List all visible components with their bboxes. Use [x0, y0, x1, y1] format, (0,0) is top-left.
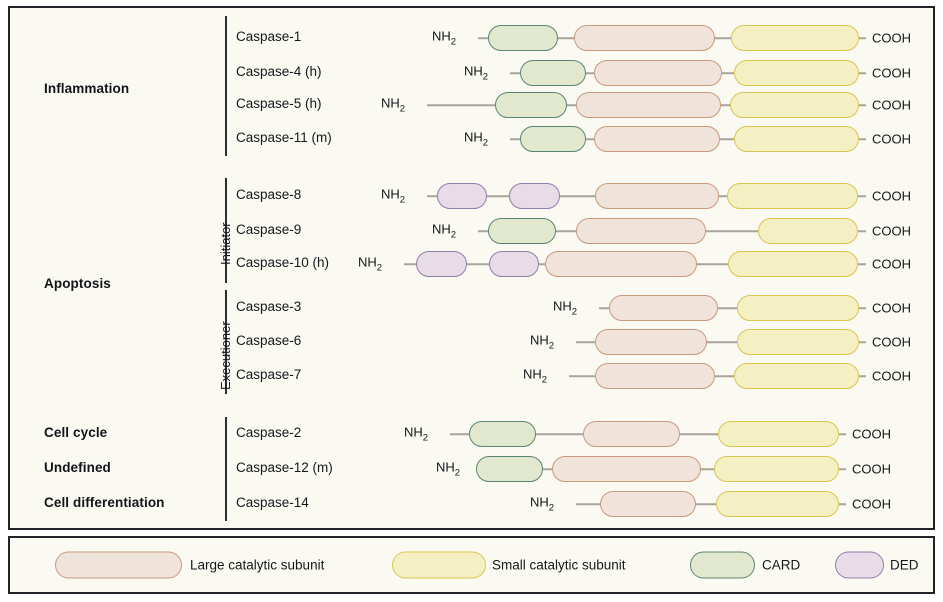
small-catalytic-subunit-caspase-7-2	[734, 363, 859, 389]
linker-c-terminus-caspase-8	[858, 195, 866, 197]
large-catalytic-subunit-caspase-7	[595, 363, 715, 389]
caspase-name-caspase-14: Caspase-14	[236, 495, 309, 510]
legend-swatch-card	[690, 552, 755, 579]
linker-caspase-10-h-1	[467, 263, 489, 265]
n-terminus-label-caspase-12-m: NH2	[436, 460, 460, 479]
linker-caspase-7-1	[715, 375, 734, 377]
linker-caspase-1-2	[715, 37, 731, 39]
n-terminus-label-caspase-1: NH2	[432, 29, 456, 48]
n-terminus-label-caspase-10-h: NH2	[358, 255, 382, 274]
legend-swatch-large-catalytic-subunit	[55, 552, 182, 579]
linker-n-terminus-caspase-7	[569, 375, 595, 377]
c-terminus-label-caspase-12-m: COOH	[852, 462, 891, 477]
small-catalytic-subunit-caspase-14-2	[716, 491, 839, 517]
linker-caspase-14-1	[696, 503, 716, 505]
legend-label-small-catalytic-subunit: Small catalytic subunit	[492, 558, 626, 573]
linker-c-terminus-caspase-2	[839, 433, 846, 435]
linker-caspase-6-1	[707, 341, 737, 343]
legend-label-large-catalytic-subunit: Large catalytic subunit	[190, 558, 324, 573]
caspase-name-caspase-10-h: Caspase-10 (h)	[236, 255, 329, 270]
linker-c-terminus-caspase-10-h	[858, 263, 866, 265]
linker-c-terminus-caspase-7	[859, 375, 866, 377]
legend-label-ded: DED	[890, 558, 919, 573]
linker-c-terminus-caspase-3	[859, 307, 866, 309]
linker-caspase-4-h-1	[586, 72, 594, 74]
ded-domain-caspase-10-h-2	[489, 251, 539, 277]
large-catalytic-subunit-caspase-5-h-2	[576, 92, 721, 118]
small-catalytic-subunit-caspase-4-h-3	[734, 60, 859, 86]
linker-n-terminus-caspase-1	[478, 37, 488, 39]
c-terminus-label-caspase-3: COOH	[872, 301, 911, 316]
linker-caspase-12-m-2	[701, 468, 714, 470]
divider-inflammation	[225, 16, 227, 156]
linker-caspase-10-h-3	[697, 263, 728, 265]
large-catalytic-subunit-caspase-4-h-2	[594, 60, 722, 86]
linker-caspase-2-2	[680, 433, 718, 435]
card-domain-caspase-12-m	[476, 456, 543, 482]
linker-c-terminus-caspase-1	[859, 37, 866, 39]
small-catalytic-subunit-caspase-1-3	[731, 25, 859, 51]
n-terminus-label-caspase-4-h: NH2	[464, 64, 488, 83]
linker-caspase-3-1	[718, 307, 737, 309]
large-catalytic-subunit-caspase-2-2	[583, 421, 680, 447]
linker-c-terminus-caspase-5-h	[859, 104, 866, 106]
small-catalytic-subunit-caspase-9-3	[758, 218, 858, 244]
n-terminus-label-caspase-5-h: NH2	[381, 96, 405, 115]
legend-label-card: CARD	[762, 558, 800, 573]
large-catalytic-subunit-caspase-8-3	[595, 183, 719, 209]
card-domain-caspase-11-m	[520, 126, 586, 152]
small-catalytic-subunit-caspase-2-3	[718, 421, 839, 447]
linker-n-terminus-caspase-9	[478, 230, 488, 232]
small-catalytic-subunit-caspase-3-2	[737, 295, 859, 321]
n-terminus-label-caspase-7: NH2	[523, 367, 547, 386]
linker-n-terminus-caspase-8	[427, 195, 437, 197]
linker-n-terminus-caspase-3	[599, 307, 609, 309]
subgroup-label-executioner: Executioner	[218, 321, 233, 390]
n-terminus-label-caspase-3: NH2	[553, 299, 577, 318]
ded-domain-caspase-10-h	[416, 251, 467, 277]
c-terminus-label-caspase-2: COOH	[852, 427, 891, 442]
n-terminus-label-caspase-14: NH2	[530, 495, 554, 514]
linker-caspase-11-m-1	[586, 138, 594, 140]
c-terminus-label-caspase-7: COOH	[872, 369, 911, 384]
caspase-name-caspase-12-m: Caspase-12 (m)	[236, 460, 333, 475]
n-terminus-label-caspase-8: NH2	[381, 187, 405, 206]
c-terminus-label-caspase-10-h: COOH	[872, 257, 911, 272]
divider-other-functions	[225, 417, 227, 521]
c-terminus-label-caspase-4-h: COOH	[872, 66, 911, 81]
large-catalytic-subunit-caspase-12-m-2	[552, 456, 701, 482]
large-catalytic-subunit-caspase-11-m-2	[594, 126, 720, 152]
linker-c-terminus-caspase-6	[859, 341, 866, 343]
ded-domain-caspase-8-2	[509, 183, 560, 209]
large-catalytic-subunit-caspase-6	[595, 329, 707, 355]
card-domain-caspase-5-h	[495, 92, 567, 118]
group-label-undefined: Undefined	[44, 460, 111, 475]
caspase-name-caspase-3: Caspase-3	[236, 299, 301, 314]
linker-caspase-5-h-1	[567, 104, 576, 106]
n-terminus-label-caspase-11-m: NH2	[464, 130, 488, 149]
linker-caspase-8-2	[560, 195, 595, 197]
card-domain-caspase-2	[469, 421, 536, 447]
large-catalytic-subunit-caspase-1-2	[574, 25, 715, 51]
large-catalytic-subunit-caspase-9-2	[576, 218, 706, 244]
large-catalytic-subunit-caspase-10-h-3	[545, 251, 697, 277]
caspase-name-caspase-11-m: Caspase-11 (m)	[236, 130, 332, 145]
linker-n-terminus-caspase-4-h	[510, 72, 520, 74]
n-terminus-label-caspase-6: NH2	[530, 333, 554, 352]
linker-caspase-8-1	[487, 195, 509, 197]
n-terminus-label-caspase-2: NH2	[404, 425, 428, 444]
c-terminus-label-caspase-6: COOH	[872, 335, 911, 350]
subgroup-label-initiator: Initiator	[218, 222, 233, 265]
legend-swatch-ded	[835, 552, 884, 579]
c-terminus-label-caspase-5-h: COOH	[872, 98, 911, 113]
small-catalytic-subunit-caspase-6-2	[737, 329, 859, 355]
linker-n-terminus-caspase-5-h	[427, 104, 495, 106]
group-label-inflammation: Inflammation	[44, 81, 129, 96]
linker-caspase-9-1	[556, 230, 576, 232]
ded-domain-caspase-8	[437, 183, 487, 209]
linker-c-terminus-caspase-14	[839, 503, 846, 505]
linker-caspase-11-m-2	[720, 138, 734, 140]
card-domain-caspase-9	[488, 218, 556, 244]
linker-c-terminus-caspase-4-h	[859, 72, 866, 74]
c-terminus-label-caspase-14: COOH	[852, 497, 891, 512]
linker-n-terminus-caspase-6	[576, 341, 595, 343]
c-terminus-label-caspase-9: COOH	[872, 224, 911, 239]
linker-caspase-5-h-2	[721, 104, 730, 106]
c-terminus-label-caspase-8: COOH	[872, 189, 911, 204]
linker-caspase-12-m-1	[543, 468, 552, 470]
caspase-name-caspase-5-h: Caspase-5 (h)	[236, 96, 322, 111]
c-terminus-label-caspase-11-m: COOH	[872, 132, 911, 147]
c-terminus-label-caspase-1: COOH	[872, 31, 911, 46]
small-catalytic-subunit-caspase-11-m-3	[734, 126, 859, 152]
caspase-name-caspase-7: Caspase-7	[236, 367, 301, 382]
large-catalytic-subunit-caspase-3	[609, 295, 718, 321]
group-label-cell-differentiation: Cell differentiation	[44, 495, 165, 510]
linker-c-terminus-caspase-12-m	[839, 468, 846, 470]
group-label-apoptosis: Apoptosis	[44, 276, 111, 291]
n-terminus-label-caspase-9: NH2	[432, 222, 456, 241]
caspase-name-caspase-2: Caspase-2	[236, 425, 301, 440]
large-catalytic-subunit-caspase-14	[600, 491, 696, 517]
linker-caspase-9-2	[706, 230, 758, 232]
card-domain-caspase-1	[488, 25, 558, 51]
caspase-domain-structure-figure: InflammationApoptosisCell cycleUndefined…	[0, 0, 943, 602]
linker-c-terminus-caspase-9	[858, 230, 866, 232]
linker-caspase-1-1	[558, 37, 574, 39]
caspase-name-caspase-1: Caspase-1	[236, 29, 301, 44]
linker-c-terminus-caspase-11-m	[859, 138, 866, 140]
linker-caspase-4-h-2	[722, 72, 734, 74]
small-catalytic-subunit-caspase-8-4	[727, 183, 858, 209]
linker-caspase-2-1	[536, 433, 583, 435]
small-catalytic-subunit-caspase-5-h-3	[730, 92, 859, 118]
linker-n-terminus-caspase-14	[576, 503, 600, 505]
card-domain-caspase-4-h	[520, 60, 586, 86]
caspase-name-caspase-8: Caspase-8	[236, 187, 301, 202]
linker-n-terminus-caspase-10-h	[404, 263, 416, 265]
linker-n-terminus-caspase-11-m	[510, 138, 520, 140]
group-label-cell-cycle: Cell cycle	[44, 425, 107, 440]
small-catalytic-subunit-caspase-12-m-3	[714, 456, 839, 482]
linker-n-terminus-caspase-2	[450, 433, 469, 435]
caspase-name-caspase-9: Caspase-9	[236, 222, 301, 237]
small-catalytic-subunit-caspase-10-h-4	[728, 251, 858, 277]
legend-swatch-small-catalytic-subunit	[392, 552, 486, 579]
caspase-name-caspase-4-h: Caspase-4 (h)	[236, 64, 322, 79]
linker-caspase-8-3	[719, 195, 727, 197]
caspase-name-caspase-6: Caspase-6	[236, 333, 301, 348]
